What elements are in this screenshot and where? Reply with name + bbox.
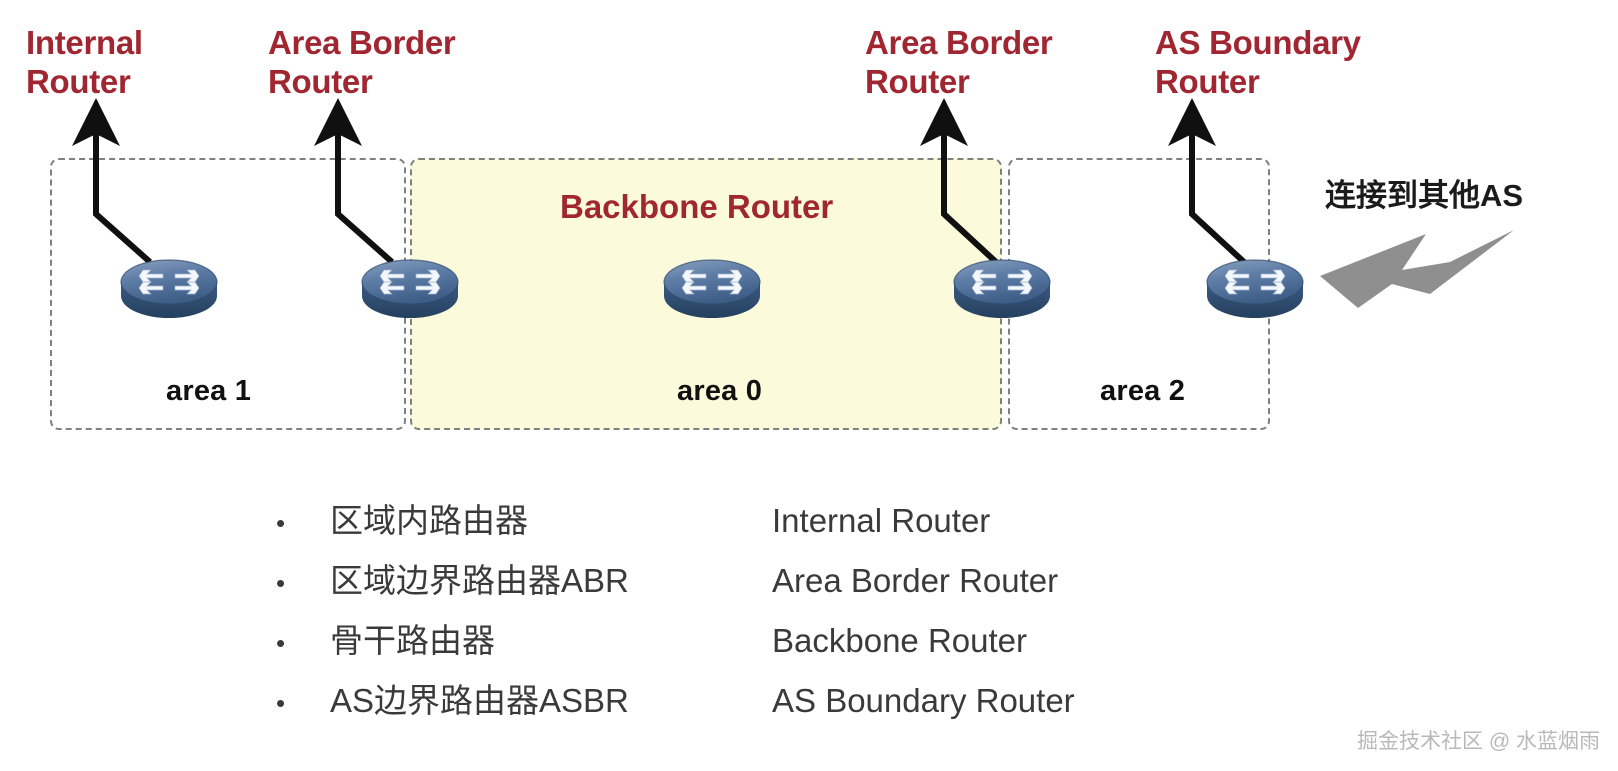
- external-as-label: 连接到其他AS: [1325, 170, 1523, 215]
- router-icon-abr-right[interactable]: [950, 250, 1054, 320]
- legend-row: • 区域内路由器 Internal Router: [268, 494, 1318, 554]
- router-icon-backbone[interactable]: [660, 250, 764, 320]
- area-label-area-1: area 1: [166, 375, 251, 408]
- diagram-canvas: Internal Router Area Border Router Area …: [0, 0, 1618, 771]
- router-icon-abr-left[interactable]: [358, 250, 462, 320]
- router-icon-asbr[interactable]: [1203, 250, 1307, 320]
- legend-term-cn: 骨干路由器: [330, 614, 772, 662]
- legend-term-cn: AS边界路由器ASBR: [330, 674, 772, 722]
- callout-internal-router: Internal Router: [26, 24, 143, 102]
- legend-term-cn: 区域边界路由器ABR: [330, 554, 772, 602]
- area-label-area-0: area 0: [677, 375, 762, 408]
- legend-row: • AS边界路由器ASBR AS Boundary Router: [268, 674, 1318, 734]
- legend-row: • 区域边界路由器ABR Area Border Router: [268, 554, 1318, 614]
- legend-row: • 骨干路由器 Backbone Router: [268, 614, 1318, 674]
- legend-term-en: Backbone Router: [772, 622, 1318, 660]
- watermark: 掘金技术社区 @ 水蓝烟雨: [1357, 725, 1600, 755]
- lightning-bolt-icon: [1318, 228, 1518, 318]
- backbone-router-title: Backbone Router: [560, 188, 833, 226]
- legend-term-en: Area Border Router: [772, 562, 1318, 600]
- bullet-icon: •: [268, 570, 330, 596]
- bullet-icon: •: [268, 630, 330, 656]
- legend-list: • 区域内路由器 Internal Router • 区域边界路由器ABR Ar…: [268, 494, 1318, 734]
- bullet-icon: •: [268, 690, 330, 716]
- router-icon-internal[interactable]: [117, 250, 221, 320]
- callout-area-border-router-left: Area Border Router: [268, 24, 455, 102]
- callout-area-border-router-right: Area Border Router: [865, 24, 1052, 102]
- legend-term-cn: 区域内路由器: [330, 494, 772, 542]
- callout-as-boundary-router: AS Boundary Router: [1155, 24, 1361, 102]
- bullet-icon: •: [268, 510, 330, 536]
- area-label-area-2: area 2: [1100, 375, 1185, 408]
- legend-term-en: Internal Router: [772, 502, 1318, 540]
- legend-term-en: AS Boundary Router: [772, 682, 1318, 720]
